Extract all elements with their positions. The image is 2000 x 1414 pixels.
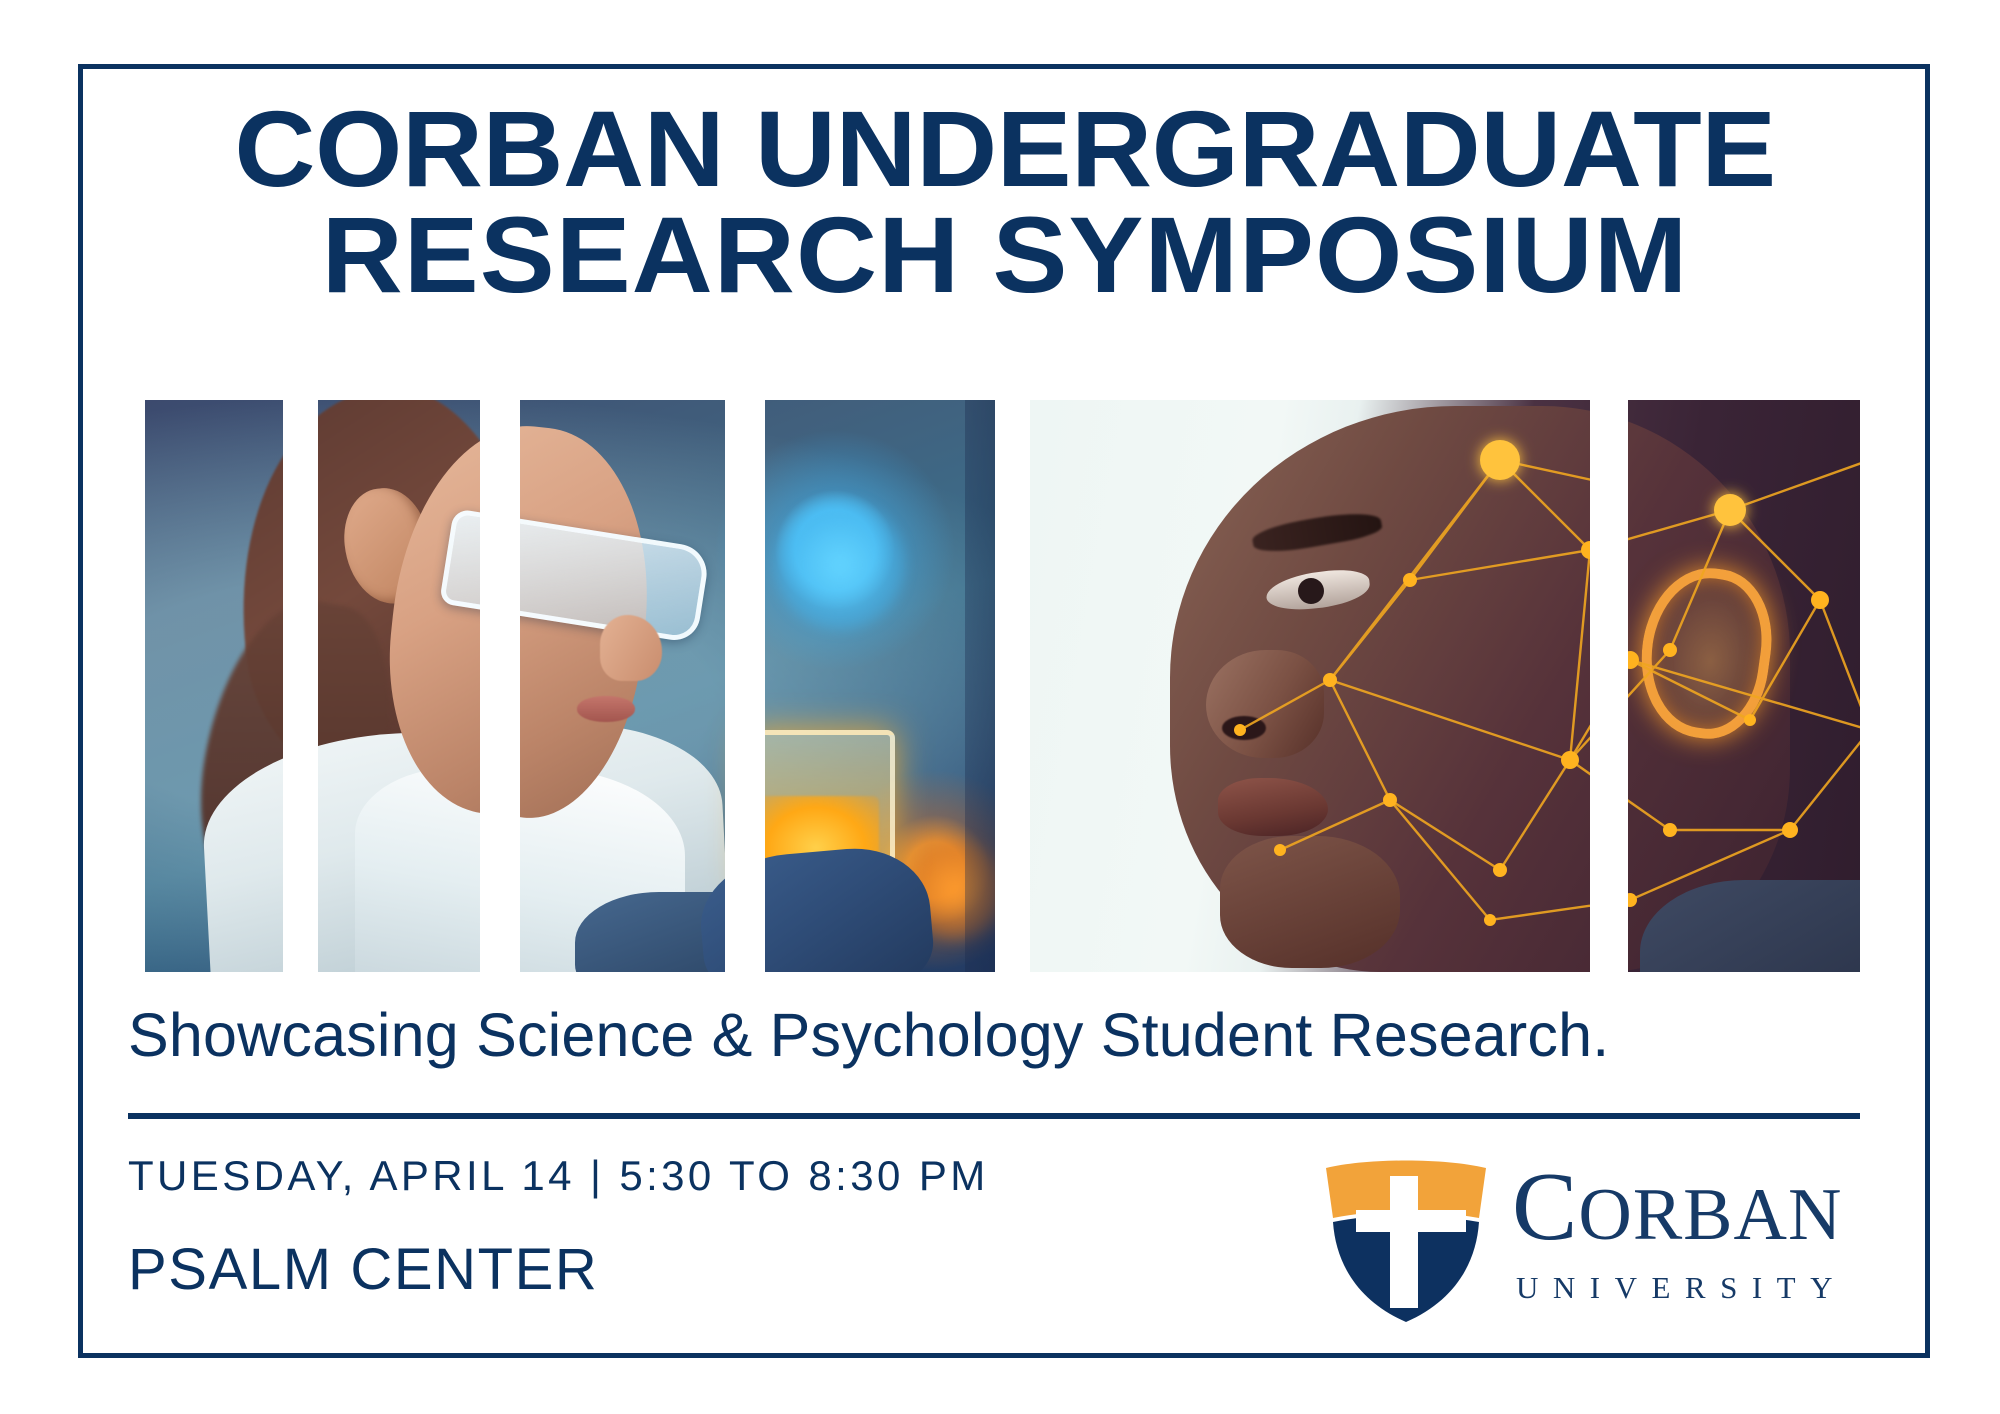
- page-title: CORBAN UNDERGRADUATE RESEARCH SYMPOSIUM: [74, 96, 1936, 308]
- corban-name: CORBAN: [1512, 1158, 1847, 1264]
- corban-tagline: UNIVERSITY: [1516, 1270, 1847, 1306]
- corban-shield-cross-icon: [1316, 1146, 1496, 1326]
- event-details: TUESDAY, APRIL 14 | 5:30 TO 8:30 PM PSAL…: [128, 1152, 989, 1303]
- corban-name-rest: ORBAN: [1578, 1174, 1842, 1256]
- photo-panel-neuro-portrait-slice-2: [1628, 400, 1860, 972]
- photo-panel-lab-scientist-slice-3: [520, 400, 725, 972]
- event-poster: CORBAN UNDERGRADUATE RESEARCH SYMPOSIUM: [0, 0, 2000, 1414]
- photo-panel-lab-scientist-slice-2: [318, 400, 480, 972]
- corban-wordmark: CORBAN UNIVERSITY: [1512, 1158, 1847, 1306]
- photo-panel-lab-scientist-slice-1: [145, 400, 283, 972]
- event-venue: PSALM CENTER: [128, 1236, 989, 1303]
- photo-panel-lab-scientist-slice-4: [765, 400, 995, 972]
- corban-name-lead: C: [1512, 1153, 1578, 1261]
- page-title-line-2: RESEARCH SYMPOSIUM: [74, 202, 1936, 308]
- photo-panel-neuro-portrait-slice-1: [1030, 400, 1590, 972]
- section-divider: [128, 1113, 1860, 1119]
- page-title-line-1: CORBAN UNDERGRADUATE: [74, 96, 1936, 202]
- corban-university-logo: CORBAN UNIVERSITY: [1316, 1146, 1916, 1326]
- event-datetime: TUESDAY, APRIL 14 | 5:30 TO 8:30 PM: [128, 1152, 989, 1200]
- photo-strip: [0, 400, 2000, 972]
- poster-subtitle: Showcasing Science & Psychology Student …: [128, 1000, 1868, 1070]
